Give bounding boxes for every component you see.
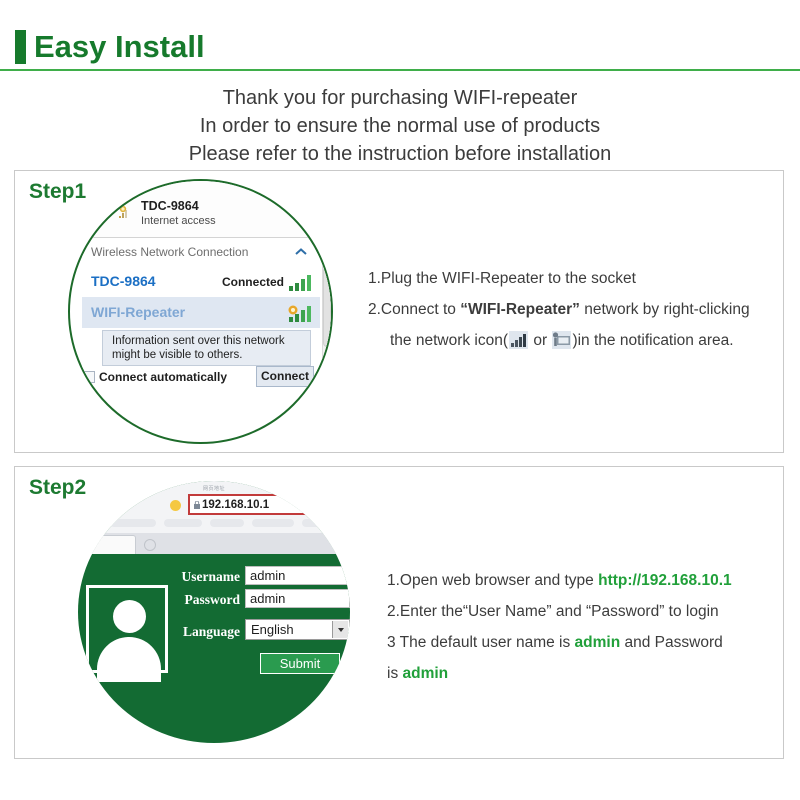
wifi-tooltip-header: TDC-9864 Internet access [70,181,333,237]
language-label: Language [168,624,240,640]
language-select[interactable]: English [245,619,350,640]
intro-line-3: Please refer to the instruction before i… [0,140,800,168]
line3-suffix: and Password [620,634,723,651]
wifi-tooltip-ssid: TDC-9864 [141,199,199,213]
browser-chrome: 网页地址 192.168.10.1 [78,481,350,554]
wifi-network-name: WIFI-Repeater [91,304,185,320]
browser-tab[interactable]: eater Web S... [78,535,136,554]
wifi-network-name: TDC-9864 [91,273,156,289]
toolbar-item[interactable] [78,519,102,527]
wireless-network-list: Wireless Network Connection TDC-9864 Con… [82,237,332,387]
connect-automatically-label: Connect automatically [99,370,227,384]
wifi-security-note: Information sent over this network might… [102,330,311,366]
step2-panel: Step2 网页地址 192.168.10.1 [14,466,784,759]
default-password: admin [403,665,449,682]
step1-instruction-line-3: the network icon( or )in the notificatio… [368,325,778,356]
connect-automatically-checkbox[interactable] [83,371,95,383]
new-tab-icon[interactable] [144,539,156,551]
intro-text: Thank you for purchasing WIFI-repeater I… [0,84,800,168]
connect-button[interactable]: Connect [256,366,314,387]
wifi-bars-icon [288,274,314,291]
intro-line-2: In order to ensure the normal use of pro… [0,112,800,140]
step2-instruction-line-1: 1.Open web browser and type http://192.1… [387,565,784,596]
submit-button[interactable]: Submit [260,653,340,674]
toolbar-item[interactable] [302,519,332,527]
step1-panel: Step1 TDC-9864 Internet access Wireless … [14,170,784,453]
toolbar-item[interactable] [164,519,202,527]
wifi-note-line-2: might be visible to others. [112,349,242,361]
line2-suffix: network by right-clicking [580,301,750,318]
browser-tab-title: eater Web S... [78,540,79,547]
avatar-body [97,637,161,682]
address-bar-value: 192.168.10.1 [202,499,269,511]
step1-label: Step1 [29,180,86,204]
wifi-panel-title: Wireless Network Connection [91,245,248,259]
wifi-panel-header: Wireless Network Connection [82,238,332,266]
wifi-panel-footer: Connect automatically Connect [82,368,332,388]
line4-prefix: is [387,665,403,682]
step2-instruction-line-4: is admin [387,658,784,689]
router-login-illustration: 网页地址 192.168.10.1 [15,481,355,751]
wifi-list-scrollbar[interactable] [322,266,332,381]
toolbar-item[interactable] [110,519,156,527]
avatar-head [113,600,146,633]
wifi-popup-illustration: TDC-9864 Internet access Wireless Networ… [68,179,333,444]
network-monitor-icon [552,331,571,349]
router-login-circle: 网页地址 192.168.10.1 [78,481,350,743]
line3-prefix: the network icon( [390,332,508,349]
default-username: admin [575,634,621,651]
intro-line-1: Thank you for purchasing WIFI-repeater [0,84,800,112]
router-url: http://192.168.10.1 [598,572,732,589]
password-label: Password [168,592,240,608]
line3-suffix: )in the notification area. [572,332,733,349]
page-title: Easy Install [34,28,205,66]
line2-prefix: 2.Connect to [368,301,460,318]
chevron-down-icon[interactable] [332,621,348,638]
chevron-up-icon[interactable] [295,248,307,256]
favicon-icon [170,500,181,511]
wifi-network-status: Connected [222,275,284,289]
wifi-signal-icon [118,205,134,219]
header-accent-bar [15,30,26,64]
signal-bars-icon [509,331,528,349]
user-avatar-icon [86,585,168,673]
line2-network-name: “WIFI-Repeater” [460,301,580,318]
toolbar-item[interactable] [210,519,244,527]
line1-prefix: 1.Open web browser and type [387,572,598,589]
browser-tab-strip: eater Web S... [78,533,350,554]
scrollbar-thumb[interactable] [323,267,331,347]
step1-instruction-line-2: 2.Connect to “WIFI-Repeater” network by … [368,294,778,325]
step1-instruction-line-1: 1.Plug the WIFI-Repeater to the socket [368,263,778,294]
wifi-tooltip-subtitle: Internet access [141,215,216,227]
line3-prefix: 3 The default user name is [387,634,575,651]
step2-instruction-line-3: 3 The default user name is admin and Pas… [387,627,784,658]
wifi-network-item[interactable]: WIFI-Repeater [82,297,320,328]
header-divider [0,69,800,71]
page-header: Easy Install [0,0,800,72]
step2-instruction-line-2: 2.Enter the“User Name” and “Password” to… [387,596,784,627]
lock-icon [194,501,200,509]
step2-instructions: 1.Open web browser and type http://192.1… [387,565,784,689]
username-label: Username [168,569,240,585]
address-bar[interactable]: 192.168.10.1 [188,494,323,515]
toolbar-item[interactable] [252,519,294,527]
wifi-note-line-1: Information sent over this network [112,335,285,347]
address-bar-remainder [324,496,350,513]
password-input[interactable]: admin [245,589,350,608]
browser-toolbar [78,517,350,530]
browser-hint-label: 网页地址 [203,485,225,492]
username-input[interactable]: admin [245,566,350,585]
line3-or: or [529,332,551,349]
wifi-bars-warning-icon [288,305,314,322]
language-select-value: English [251,622,294,637]
wifi-network-item[interactable]: TDC-9864 Connected [82,266,320,297]
step2-label: Step2 [29,476,86,500]
step1-instructions: 1.Plug the WIFI-Repeater to the socket 2… [368,263,778,356]
